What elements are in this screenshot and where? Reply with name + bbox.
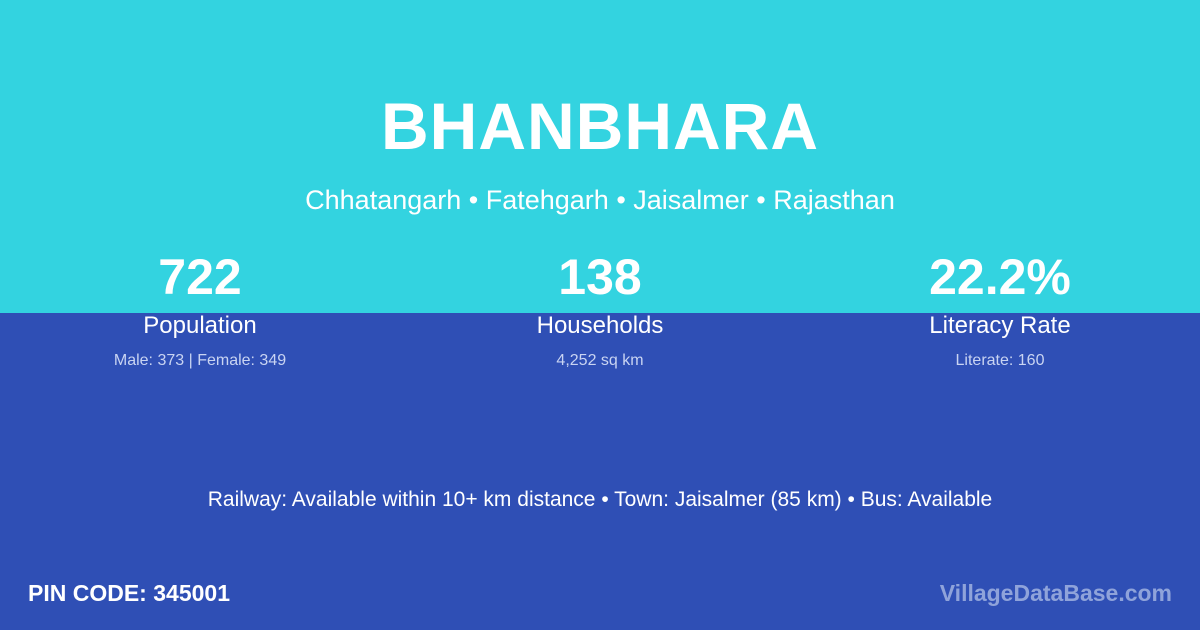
stat-label: Literacy Rate	[800, 310, 1200, 342]
stat-value: 22.2%	[800, 246, 1200, 308]
village-info-card: BHANBHARA Chhatangarh • Fatehgarh • Jais…	[0, 0, 1200, 630]
breadcrumb: Chhatangarh • Fatehgarh • Jaisalmer • Ra…	[0, 182, 1200, 218]
stat-value: 138	[400, 246, 800, 308]
transport-info: Railway: Available within 10+ km distanc…	[0, 485, 1200, 515]
stat-sublabel: 4,252 sq km	[400, 350, 800, 372]
stat-sublabel: Male: 373 | Female: 349	[0, 350, 400, 372]
stat-households: 138 Households 4,252 sq km	[400, 246, 800, 372]
site-brand: VillageDataBase.com	[940, 578, 1172, 608]
pin-code: PIN CODE: 345001	[28, 578, 230, 608]
stats-row: 722 Population Male: 373 | Female: 349 1…	[0, 246, 1200, 372]
stat-sublabel: Literate: 160	[800, 350, 1200, 372]
stat-literacy-rate: 22.2% Literacy Rate Literate: 160	[800, 246, 1200, 372]
stat-label: Households	[400, 310, 800, 342]
stat-value: 722	[0, 246, 400, 308]
stat-label: Population	[0, 310, 400, 342]
page-title: BHANBHARA	[0, 88, 1200, 164]
stat-population: 722 Population Male: 373 | Female: 349	[0, 246, 400, 372]
